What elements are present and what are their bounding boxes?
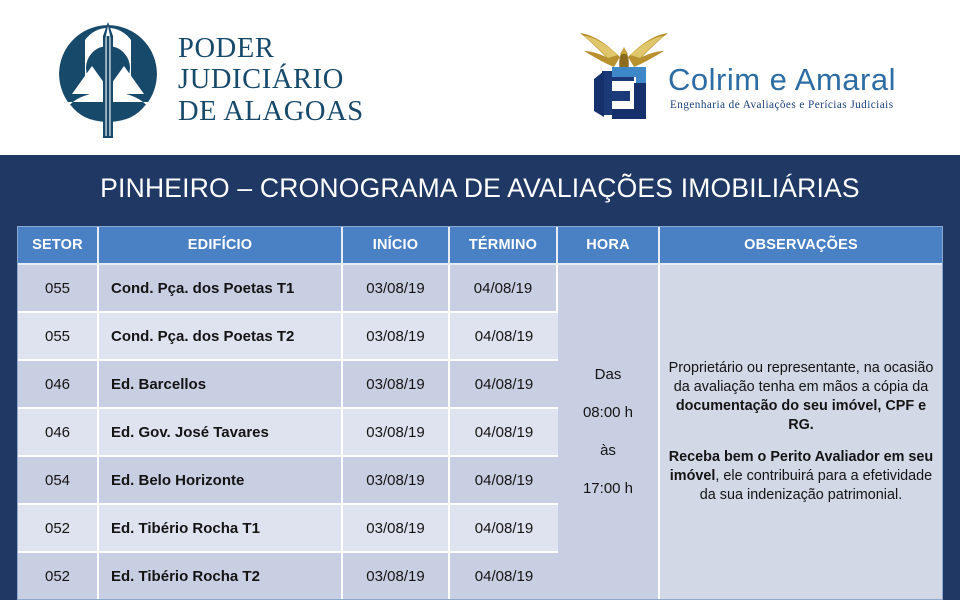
cell-termino: 04/08/19 [450, 265, 558, 313]
colrim-amaral-tagline: Engenharia de Avaliações e Perícias Judi… [670, 99, 894, 111]
cell-inicio: 03/08/19 [343, 505, 450, 553]
justice-scales-emblem-icon [52, 22, 164, 138]
hora-line-4: 17:00 h [583, 480, 633, 497]
cell-inicio: 03/08/19 [343, 313, 450, 361]
column-header-hora: HORA [558, 227, 660, 265]
page-header: PODER JUDICIÁRIO DE ALAGOAS [0, 0, 960, 155]
table-row: 055 Cond. Pça. dos Poetas T1 03/08/19 04… [18, 265, 942, 313]
observacao-paragraph-1: Proprietário ou representante, na ocasiã… [669, 360, 934, 433]
cell-edificio: Ed. Barcellos [99, 361, 343, 409]
colrim-amaral-wordmark: Colrim e Amaral [668, 62, 896, 98]
logo-line-judiciario: JUDICIÁRIO [178, 64, 364, 95]
cell-termino: 04/08/19 [450, 505, 558, 553]
logo-line-alagoas: DE ALAGOAS [178, 96, 364, 127]
cell-setor: 046 [18, 361, 99, 409]
colrim-amaral-logo: Colrim e Amaral Engenharia de Avaliações… [572, 27, 902, 127]
cell-inicio: 03/08/19 [343, 265, 450, 313]
schedule-table: SETOR EDIFÍCIO INÍCIO TÉRMINO HORA OBSER… [18, 227, 942, 599]
cell-inicio: 03/08/19 [343, 553, 450, 599]
cell-termino: 04/08/19 [450, 409, 558, 457]
content-panel: PINHEIRO – CRONOGRAMA DE AVALIAÇÕES IMOB… [0, 155, 960, 600]
observacao-p1-text: Proprietário ou representante, na ocasiã… [669, 360, 934, 395]
cell-inicio: 03/08/19 [343, 409, 450, 457]
cell-edificio: Ed. Gov. José Tavares [99, 409, 343, 457]
cell-edificio: Cond. Pça. dos Poetas T2 [99, 313, 343, 361]
cell-termino: 04/08/19 [450, 457, 558, 505]
column-header-termino: TÉRMINO [450, 227, 558, 265]
cell-edificio: Cond. Pça. dos Poetas T1 [99, 265, 343, 313]
cell-edificio: Ed. Belo Horizonte [99, 457, 343, 505]
hora-line-2: 08:00 h [583, 404, 633, 421]
observacao-spacer [668, 436, 934, 448]
hora-line-1: Das [595, 366, 622, 383]
cell-inicio: 03/08/19 [343, 361, 450, 409]
cell-setor: 052 [18, 505, 99, 553]
eagle-and-cube-emblem-icon [572, 27, 676, 125]
table-header-row: SETOR EDIFÍCIO INÍCIO TÉRMINO HORA OBSER… [18, 227, 942, 265]
column-header-edificio: EDIFÍCIO [99, 227, 343, 265]
cell-termino: 04/08/19 [450, 313, 558, 361]
cell-setor: 046 [18, 409, 99, 457]
cell-termino: 04/08/19 [450, 361, 558, 409]
column-header-setor: SETOR [18, 227, 99, 265]
column-header-observacoes: OBSERVAÇÕES [660, 227, 942, 265]
observacao-paragraph-2: Receba bem o Perito Avaliador em seu imó… [669, 449, 933, 503]
observacao-p1-bold: documentação do seu imóvel, CPF e RG. [676, 398, 926, 433]
logo-line-poder: PODER [178, 33, 364, 64]
cell-edificio: Ed. Tibério Rocha T1 [99, 505, 343, 553]
poder-judiciario-wordmark: PODER JUDICIÁRIO DE ALAGOAS [178, 33, 364, 126]
column-header-inicio: INÍCIO [343, 227, 450, 265]
page-title: PINHEIRO – CRONOGRAMA DE AVALIAÇÕES IMOB… [0, 173, 960, 204]
cell-edificio: Ed. Tibério Rocha T2 [99, 553, 343, 599]
cell-hora: Das 08:00 h às 17:00 h [558, 265, 660, 599]
cell-observacoes: Proprietário ou representante, na ocasiã… [660, 265, 942, 599]
cell-inicio: 03/08/19 [343, 457, 450, 505]
observacao-p2-text: , ele contribuirá para a efetividade da … [700, 468, 932, 503]
cell-setor: 054 [18, 457, 99, 505]
poder-judiciario-logo: PODER JUDICIÁRIO DE ALAGOAS [52, 22, 364, 138]
hora-line-3: às [600, 442, 616, 459]
cell-termino: 04/08/19 [450, 553, 558, 599]
cell-setor: 052 [18, 553, 99, 599]
cell-setor: 055 [18, 313, 99, 361]
cell-setor: 055 [18, 265, 99, 313]
